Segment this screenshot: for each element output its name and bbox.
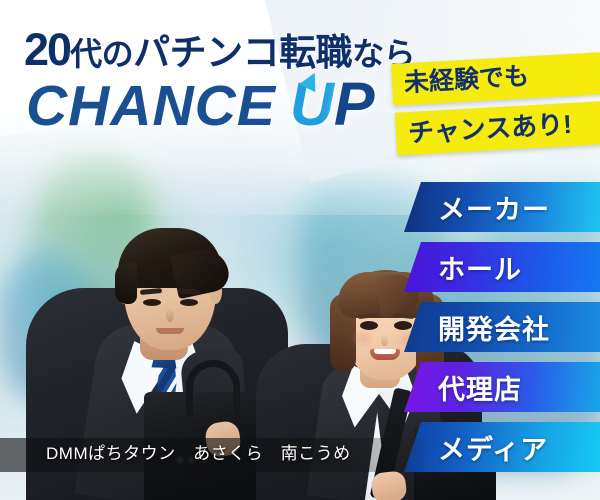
briefcase-handle-icon (186, 360, 240, 416)
badge-line-2: チャンスあり! (395, 101, 600, 156)
logo-up-letter-p: P (334, 70, 375, 138)
category-item-developer[interactable]: 開発会社 (404, 302, 600, 352)
category-label: メディア (438, 428, 548, 467)
category-item-agency[interactable]: 代理店 (404, 362, 600, 412)
male-eye-right (180, 299, 198, 306)
category-item-maker[interactable]: メーカー (404, 182, 600, 232)
headline-number: 20 (24, 24, 70, 75)
female-cheek-left (354, 333, 372, 344)
male-eye-left (143, 299, 161, 306)
headline-middle: パチンコ転職 (133, 32, 352, 73)
caption-credit-text: DMMぱちタウン あさくら 南こうめ (46, 439, 351, 464)
female-nose (381, 334, 388, 346)
category-label: 開発会社 (438, 308, 550, 347)
category-item-hall[interactable]: ホール (404, 242, 600, 292)
female-teeth (374, 349, 396, 354)
female-hand (371, 470, 408, 500)
male-nose (166, 308, 174, 322)
male-mouth (156, 328, 184, 334)
category-label: メーカー (438, 188, 550, 227)
category-label: ホール (438, 248, 522, 287)
logo-chance-text: CHANCE (26, 74, 276, 138)
logo-up-text: UP (290, 74, 375, 135)
female-eye-left (360, 321, 378, 330)
chance-up-logo: CHANCEUP (26, 74, 375, 135)
male-hair-side (115, 262, 137, 304)
headline-suffix: 代の (70, 36, 133, 72)
headline: 20代のパチンコ転職なら (24, 22, 415, 76)
highlight-badge: 未経験でも チャンスあり! (392, 58, 600, 150)
advertisement-banner[interactable]: 20代のパチンコ転職なら CHANCEUP 未経験でも チャンスあり! メーカー… (0, 0, 600, 500)
badge-line-1: 未経験でも (391, 52, 600, 106)
category-item-media[interactable]: メディア (404, 422, 600, 472)
category-label: 代理店 (438, 368, 522, 407)
category-list: メーカー ホール 開発会社 代理店 メディア (404, 182, 600, 472)
